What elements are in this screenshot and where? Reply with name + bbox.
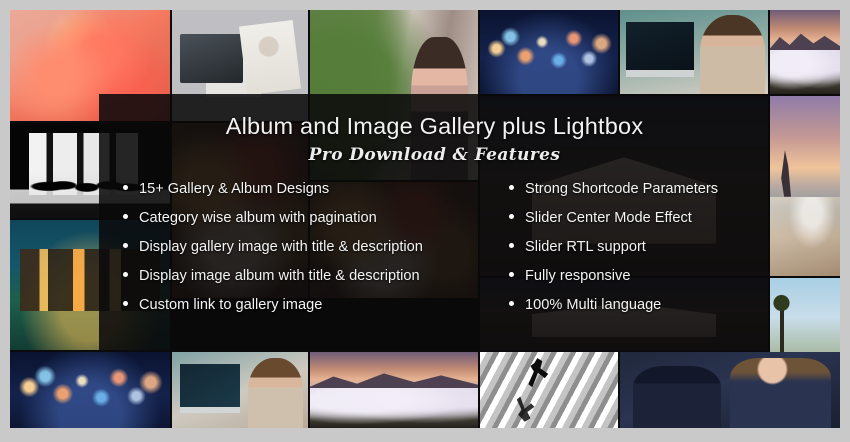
bullet-icon [509, 185, 514, 190]
banner-subtitle: Pro Download & Features [99, 145, 770, 165]
business-meeting-art [620, 352, 840, 428]
mountains-clouds-art-top [770, 10, 840, 94]
mountains-above-clouds-photo-top [770, 10, 840, 94]
feature-label: 100% Multi language [525, 298, 661, 313]
feature-item: Custom link to gallery image [123, 298, 509, 313]
woman-imac-art [620, 10, 768, 94]
bullet-icon [509, 243, 514, 248]
beach-sunset-art [770, 96, 840, 276]
feature-item: 100% Multi language [509, 298, 764, 313]
bullet-icon [509, 214, 514, 219]
feature-label: Fully responsive [525, 269, 630, 284]
bullet-icon [123, 301, 128, 306]
bullet-icon [509, 301, 514, 306]
beach-sunset-rock-photo [770, 96, 840, 276]
feature-item: 15+ Gallery & Album Designs [123, 182, 509, 197]
city-lights-photo [10, 352, 170, 428]
bullet-icon [509, 272, 514, 277]
feature-list-right: Strong Shortcode Parameters Slider Cente… [509, 182, 764, 327]
promo-overlay-panel: Album and Image Gallery plus Lightbox Pr… [99, 94, 770, 350]
monitor-desk-woman-art [172, 352, 308, 428]
gallery-plugin-banner: Album and Image Gallery plus Lightbox Pr… [0, 0, 850, 442]
jumping-person-photo [480, 352, 618, 428]
feature-label: Strong Shortcode Parameters [525, 182, 718, 197]
woman-at-imac-photo [620, 10, 768, 94]
feature-lists: 15+ Gallery & Album Designs Category wis… [99, 182, 770, 327]
monitor-desk-woman-photo [172, 352, 308, 428]
city-bokeh-night-photo [480, 10, 618, 94]
feature-item: Category wise album with pagination [123, 211, 509, 226]
feature-item: Display image album with title & descrip… [123, 269, 509, 284]
jumping-person-art [480, 352, 618, 428]
feature-item: Strong Shortcode Parameters [509, 182, 764, 197]
bullet-icon [123, 243, 128, 248]
feature-item: Fully responsive [509, 269, 764, 284]
feature-item: Slider Center Mode Effect [509, 211, 764, 226]
feature-item: Slider RTL support [509, 240, 764, 255]
mountains-clouds-art [310, 352, 478, 428]
feature-label: Slider RTL support [525, 240, 646, 255]
feature-label: Category wise album with pagination [139, 211, 377, 226]
bullet-icon [123, 214, 128, 219]
feature-label: Custom link to gallery image [139, 298, 322, 313]
feature-list-left: 15+ Gallery & Album Designs Category wis… [123, 182, 509, 327]
business-meeting-photo [620, 352, 840, 428]
city-lights-art [10, 352, 170, 428]
feature-label: 15+ Gallery & Album Designs [139, 182, 329, 197]
feature-label: Display image album with title & descrip… [139, 269, 420, 284]
banner-title: Album and Image Gallery plus Lightbox [99, 94, 770, 140]
feature-item: Display gallery image with title & descr… [123, 240, 509, 255]
feature-label: Slider Center Mode Effect [525, 211, 692, 226]
mountains-above-clouds-photo [310, 352, 478, 428]
feature-label: Display gallery image with title & descr… [139, 240, 423, 255]
city-bokeh-art [480, 10, 618, 94]
bullet-icon [123, 272, 128, 277]
bullet-icon [123, 185, 128, 190]
